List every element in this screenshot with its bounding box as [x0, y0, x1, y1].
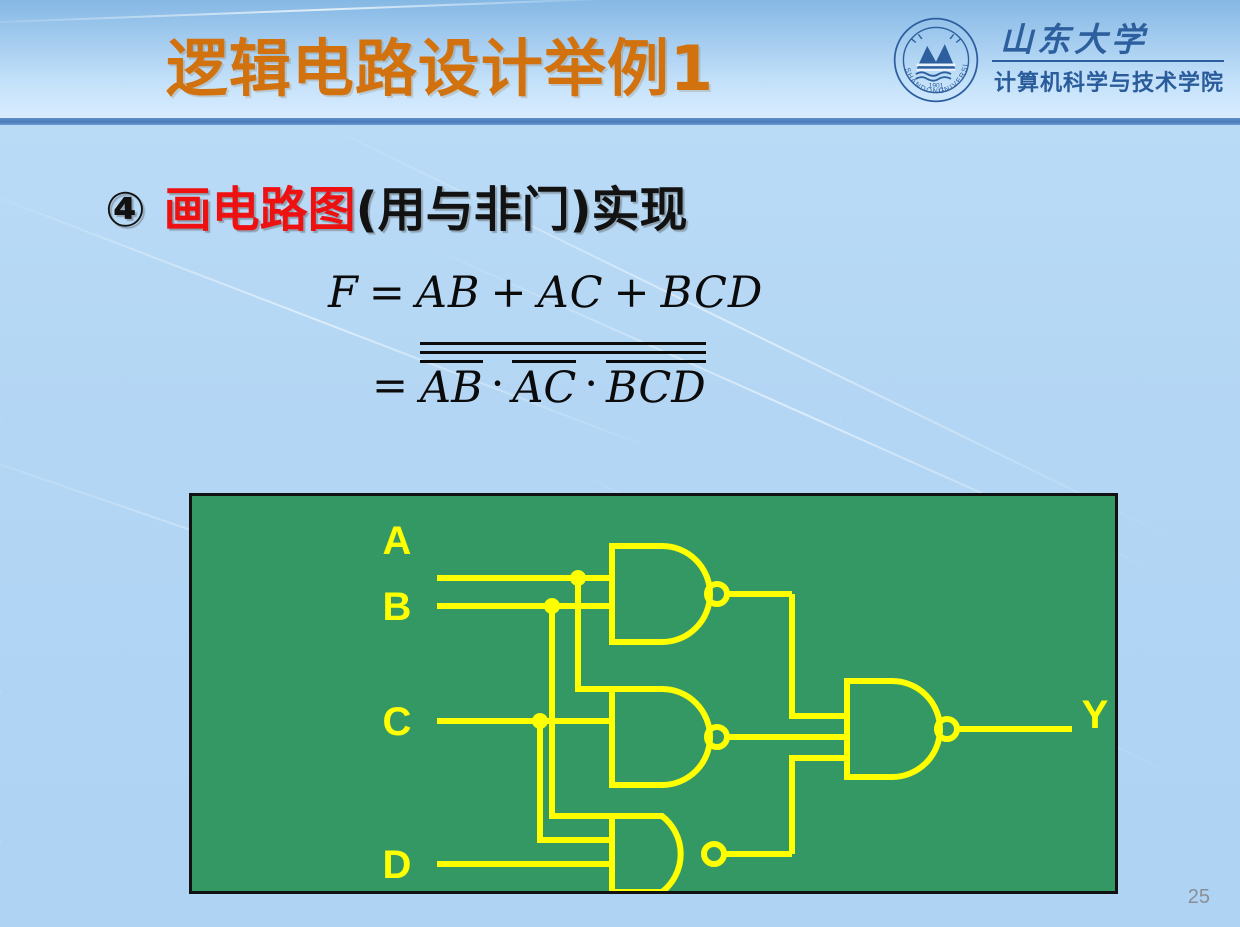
boolean-formula: F = AB + AC + BCD = AB·AC·BCD [300, 268, 860, 413]
gate-bubble-nand-bcd [704, 844, 724, 864]
circuit-schematic-svg: A B C D Y [192, 496, 1115, 891]
logo-rule [992, 60, 1224, 62]
formula-equals-2: = [372, 361, 408, 411]
formula-dot-1: · [491, 359, 505, 409]
wire-a-branch-to-gate-ac [578, 578, 612, 689]
formula-line-1: F = AB + AC + BCD [328, 268, 860, 318]
label-input-b: B [383, 585, 412, 629]
wire-nand-ab-to-out-gate [792, 594, 847, 716]
shandong-university-seal-icon: 1901 SHANDONG UNIVERSITY [892, 16, 980, 104]
heading-black-text: (用与非门)实现 [356, 170, 688, 240]
gate-body-nand-ab [612, 546, 710, 642]
formula-line-2: = AB·AC·BCD [372, 342, 860, 413]
gate-bubble-nand-ab [707, 584, 727, 604]
formula-lhs: F [328, 268, 359, 318]
step-number: ④ [105, 182, 146, 238]
page-title: 逻辑电路设计举例1 [120, 17, 760, 109]
gate-body-nand-bcd [612, 816, 681, 891]
formula-nand-term-ab: AB [420, 360, 483, 413]
junction-dot-b [544, 598, 560, 614]
junction-dot-c [532, 713, 548, 729]
page-number: 25 [1188, 886, 1210, 909]
gate-body-nand-out [847, 681, 940, 777]
wire-b-branch-to-gate-bcd [552, 606, 612, 816]
header-divider [0, 118, 1240, 125]
formula-plus-1: + [491, 268, 528, 318]
slide: 逻辑电路设计举例1 1901 SHANDONG UNIVERSITY 山东大学 … [0, 0, 1240, 927]
formula-plus-2: + [614, 268, 651, 318]
formula-dot-2: · [584, 359, 598, 409]
gate-bubble-nand-ac [707, 727, 727, 747]
formula-nand-term-bcd: BCD [606, 360, 706, 413]
gate-body-nand-ac [612, 689, 710, 785]
formula-nand-term-ac: AC [512, 360, 576, 413]
label-output-y: Y [1082, 693, 1109, 737]
circuit-diagram: A B C D Y [189, 493, 1118, 894]
formula-term-bcd: BCD [661, 268, 764, 318]
label-input-a: A [383, 519, 412, 563]
label-input-d: D [383, 843, 412, 887]
formula-term-ac: AC [538, 268, 604, 318]
logo-department-name: 计算机科学与技术学院 [992, 65, 1224, 97]
gate-bubble-nand-out [937, 719, 957, 739]
step-heading: ④ 画电路图 (用与非门)实现 [105, 170, 688, 240]
heading-red-text: 画电路图 [164, 170, 356, 240]
wire-nand-bcd-to-out-gate [792, 758, 847, 854]
formula-term-ab: AB [416, 268, 481, 318]
university-logo: 1901 SHANDONG UNIVERSITY 山东大学 计算机科学与技术学院 [892, 14, 1224, 106]
junction-dot-a [570, 570, 586, 586]
logo-text-block: 山东大学 计算机科学与技术学院 [992, 23, 1224, 98]
logo-university-name: 山东大学 [992, 23, 1152, 60]
label-input-c: C [383, 700, 412, 744]
formula-equals-1: = [369, 268, 406, 318]
formula-outer-overbar: AB·AC·BCD [420, 342, 706, 413]
